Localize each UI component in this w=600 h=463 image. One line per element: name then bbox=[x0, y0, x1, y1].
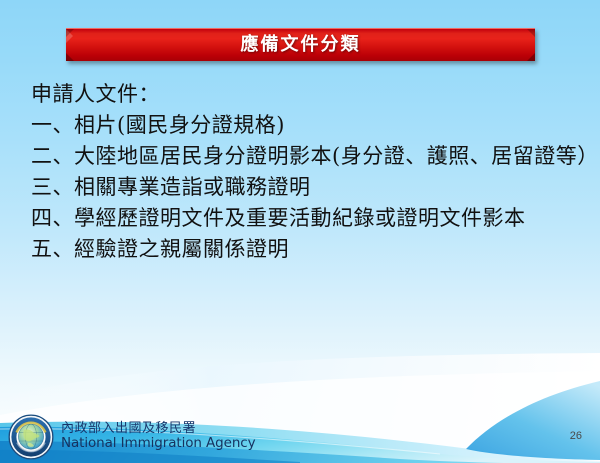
content-line-item-1: 一、相片(國民身分證規格) bbox=[31, 110, 576, 141]
content-line-item-5: 五、經驗證之親屬關係證明 bbox=[31, 234, 576, 265]
national-immigration-agency-emblem-icon bbox=[8, 414, 54, 460]
content-list: 申請人文件： 一、相片(國民身分證規格) 二、大陸地區居民身分證明影本(身分證、… bbox=[31, 79, 576, 265]
footer-org-name-en: National Immigration Agency bbox=[61, 436, 256, 450]
page-title: 應備文件分類 bbox=[66, 29, 535, 61]
footer-org-name-zh: 內政部入出國及移民署 bbox=[61, 422, 256, 436]
page-number: 26 bbox=[570, 430, 582, 442]
slide-title-banner: 應備文件分類 bbox=[66, 28, 535, 61]
footer-org-names: 內政部入出國及移民署 National Immigration Agency bbox=[61, 422, 256, 452]
slide-canvas: 應備文件分類 申請人文件： 一、相片(國民身分證規格) 二、大陸地區居民身分證明… bbox=[0, 0, 600, 463]
footer-branding: 內政部入出國及移民署 National Immigration Agency bbox=[8, 414, 256, 460]
content-line-item-3: 三、相關專業造詣或職務證明 bbox=[31, 172, 576, 203]
content-line-item-4: 四、學經歷證明文件及重要活動紀錄或證明文件影本 bbox=[31, 203, 576, 234]
content-line-heading: 申請人文件： bbox=[31, 79, 576, 110]
content-line-item-2: 二、大陸地區居民身分證明影本(身分證、護照、居留證等） bbox=[31, 141, 576, 172]
